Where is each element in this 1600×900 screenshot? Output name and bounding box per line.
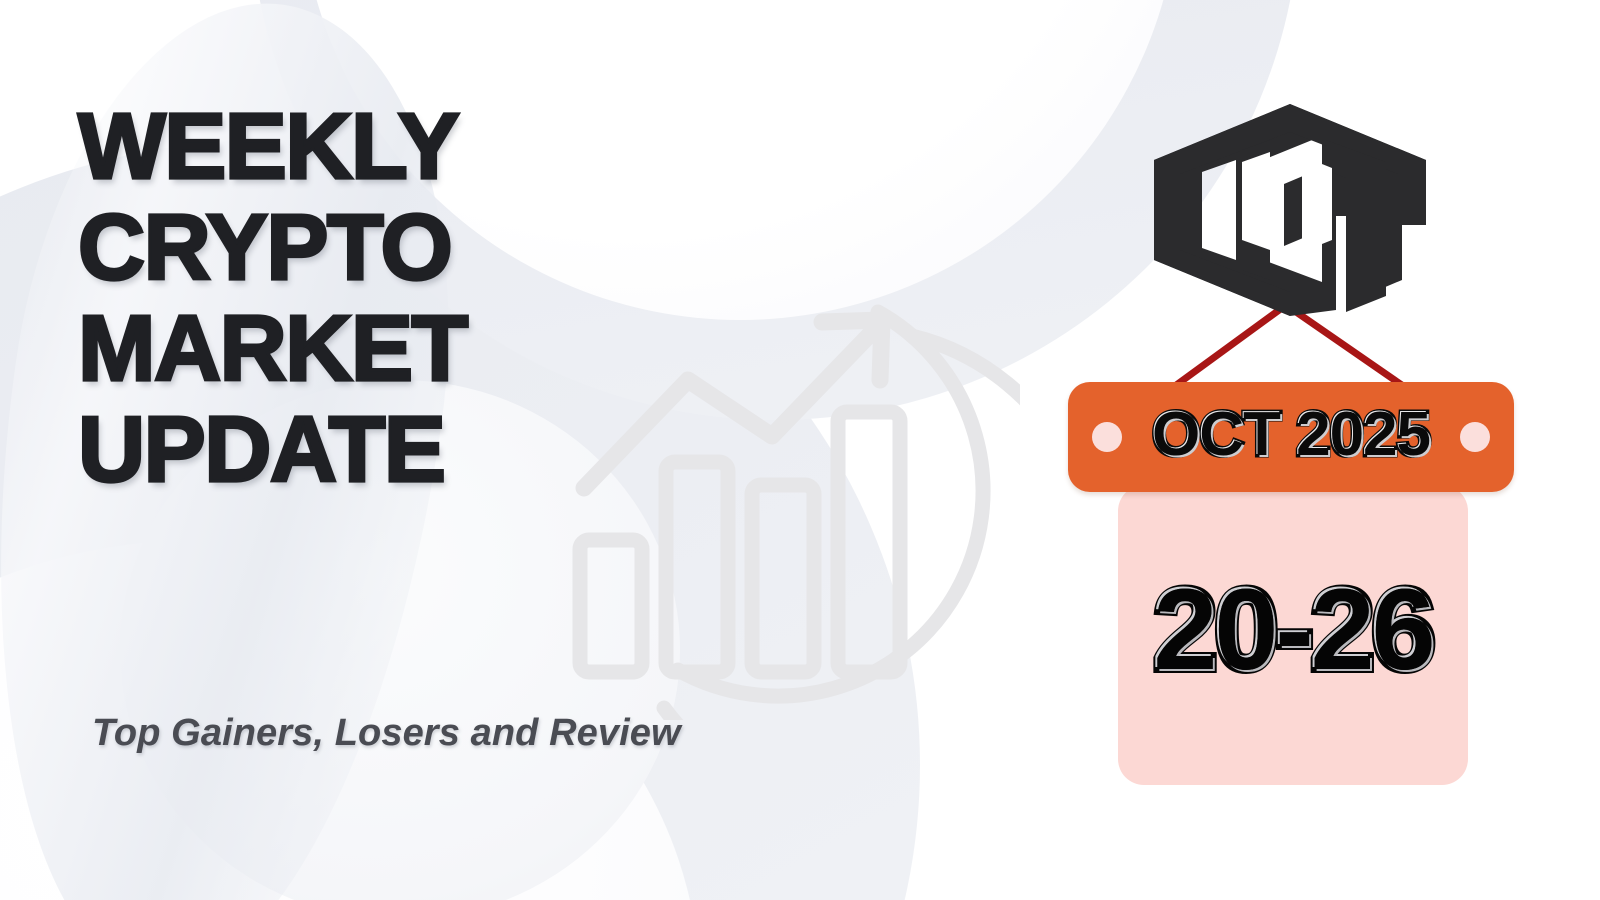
headline-line-3: MARKET [78,298,718,399]
headline-line-2: CRYPTO [78,197,718,298]
headline-line-1: WEEKLY [78,96,718,197]
calendar-body: 20-26 [1118,485,1468,785]
calendar-day-range: 20-26 [1118,573,1468,688]
headline-line-4: UPDATE [78,399,718,500]
poster-subtitle: Top Gainers, Losers and Review [92,712,681,755]
calendar-month-banner: OCT 2025 [1068,382,1514,492]
oct-hexagon-logo-icon [1150,100,1430,320]
banner-month-year-label: OCT 2025 [1068,399,1514,471]
poster-canvas: WEEKLY CRYPTO MARKET UPDATE Top Gainers,… [0,0,1600,900]
calendar-artwork: 20-26 OCT 2025 [1030,90,1550,810]
headline-block: WEEKLY CRYPTO MARKET UPDATE [78,96,718,500]
